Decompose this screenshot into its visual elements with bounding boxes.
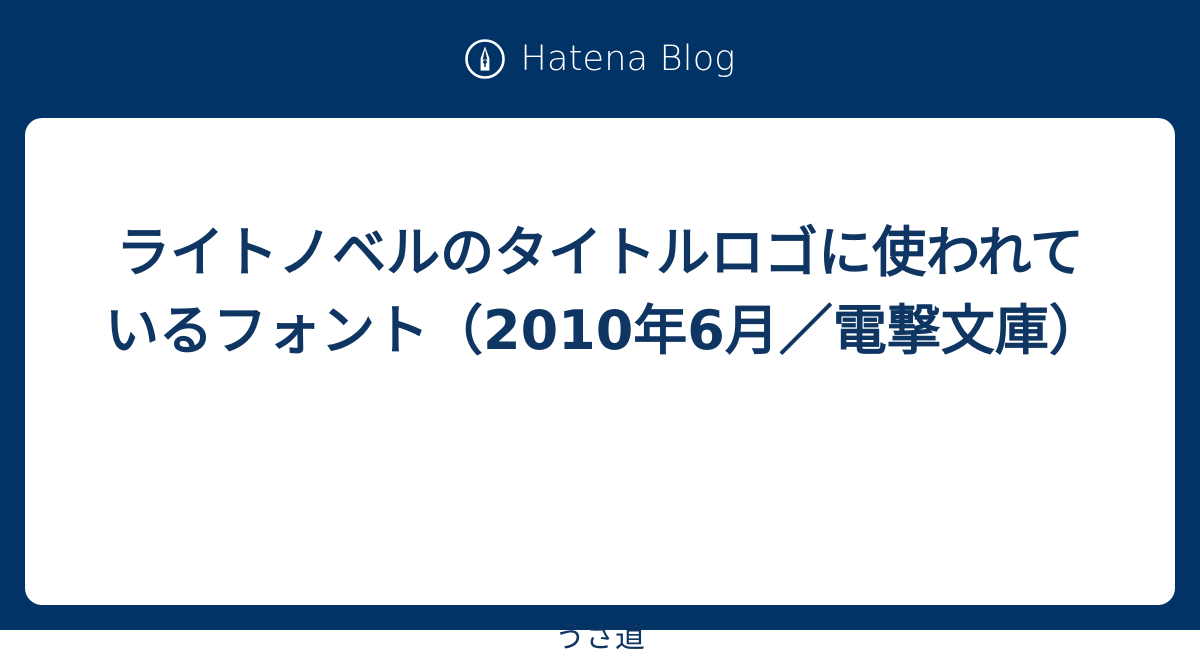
blog-name: うさ道 <box>25 618 1175 657</box>
fountain-pen-nib-circle-icon <box>464 38 506 80</box>
hatena-blog-brand-header: Hatena Blog <box>0 0 1200 118</box>
hatena-blog-brand-label: Hatena Blog <box>520 42 735 77</box>
entry-title: ライトノベルのタイトルロゴに使われているフォント（2010年6月／電撃文庫） <box>25 214 1175 370</box>
entry-card: ライトノベルのタイトルロゴに使われているフォント（2010年6月／電撃文庫） う… <box>25 118 1175 605</box>
ogp-card-canvas: Hatena Blog ライトノベルのタイトルロゴに使われているフォント（201… <box>0 0 1200 630</box>
